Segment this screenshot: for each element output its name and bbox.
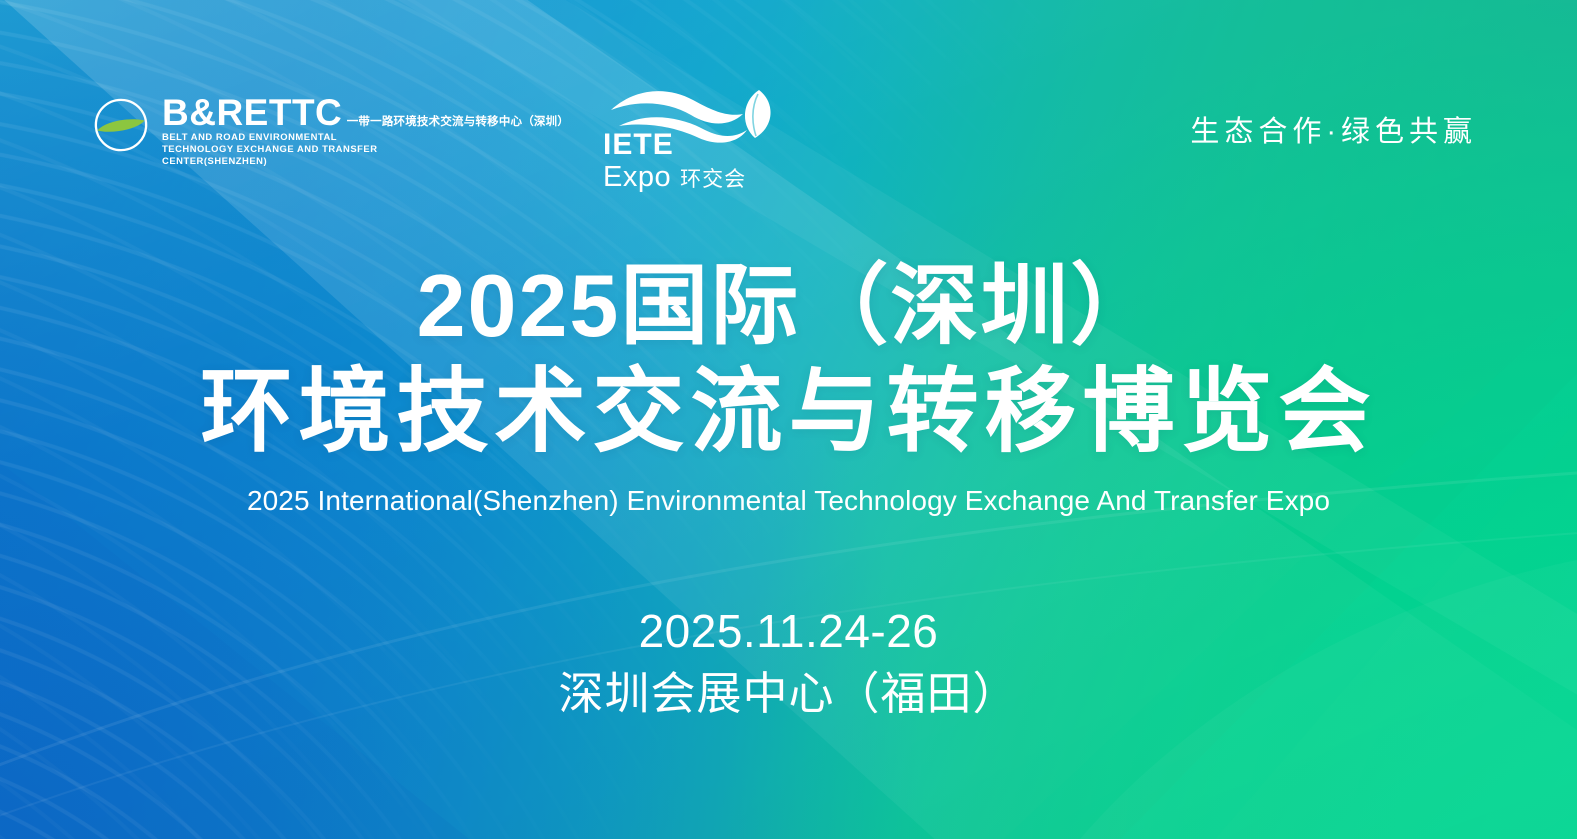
brettc-english-line-3: CENTER(SHENZHEN) bbox=[162, 155, 569, 167]
event-details: 2025.11.24-26 深圳会展中心（福田） bbox=[0, 606, 1577, 719]
brettc-english-line-2: TECHNOLOGY EXCHANGE AND TRANSFER bbox=[162, 143, 569, 155]
iete-acronym: IETE bbox=[603, 128, 674, 161]
iete-expo-word: Expo bbox=[603, 162, 671, 192]
event-banner: B&RETTC 一带一路环境技术交流与转移中心（深圳） BELT AND ROA… bbox=[0, 0, 1577, 839]
banner-header: B&RETTC 一带一路环境技术交流与转移中心（深圳） BELT AND ROA… bbox=[92, 86, 1477, 196]
brettc-logo: B&RETTC 一带一路环境技术交流与转移中心（深圳） BELT AND ROA… bbox=[92, 86, 569, 167]
logo-group: B&RETTC 一带一路环境技术交流与转移中心（深圳） BELT AND ROA… bbox=[92, 86, 775, 194]
title-line-1: 2025国际（深圳） bbox=[0, 262, 1577, 350]
brettc-english-line-1: BELT AND ROAD ENVIRONMENTAL bbox=[162, 131, 569, 143]
iete-logo: IETE Expo 环交会 bbox=[603, 86, 775, 194]
title-line-2: 环境技术交流与转移博览会 bbox=[0, 366, 1577, 458]
event-venue: 深圳会展中心（福田） bbox=[0, 668, 1577, 720]
iete-chinese-short: 环交会 bbox=[680, 169, 746, 190]
title-english-subtitle: 2025 International(Shenzhen) Environment… bbox=[0, 484, 1577, 518]
brettc-wordmark: B&RETTC bbox=[162, 92, 342, 133]
brettc-chinese-name: 一带一路环境技术交流与转移中心（深圳） bbox=[347, 116, 569, 128]
tagline: 生态合作·绿色共赢 bbox=[1190, 108, 1477, 150]
headline-block: 2025国际（深圳） 环境技术交流与转移博览会 2025 Internation… bbox=[0, 262, 1577, 518]
event-date: 2025.11.24-26 bbox=[0, 606, 1577, 658]
globe-leaf-icon bbox=[92, 96, 150, 154]
